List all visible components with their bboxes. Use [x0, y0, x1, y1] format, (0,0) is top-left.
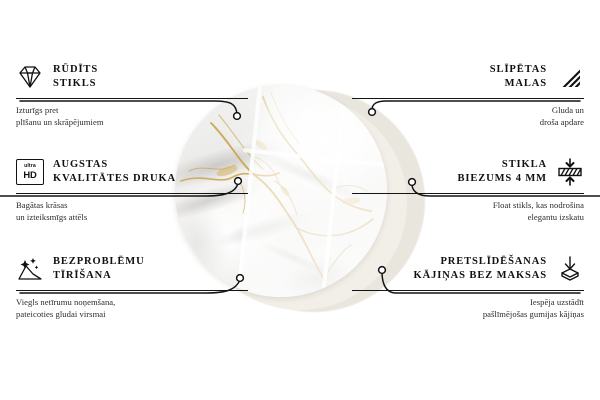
feature-description: Gluda un droša apdare	[352, 104, 584, 128]
feature-title: SLĪPĒTAS MALAS	[490, 63, 547, 92]
feature-glass-thickness: STIKLA BIEZUMS 4 MM Float stikls, kas no…	[352, 155, 584, 223]
feature-description: Bagātas krāsas un izteiksmīgs attēls	[16, 199, 248, 223]
feature-header: BEZPROBLĒMU TĪRĪŠANA	[16, 252, 248, 286]
feature-divider	[16, 193, 248, 194]
polished-edge-icon	[556, 63, 584, 91]
feature-divider	[352, 193, 584, 194]
feature-divider	[352, 98, 584, 99]
feature-title: BEZPROBLĒMU TĪRĪŠANA	[53, 255, 145, 284]
feature-anti-slip-feet: PRETSLĪDĒŠANAS KĀJIŅAS BEZ MAKSAS Iespēj…	[352, 252, 584, 320]
feature-header: ultra HD AUGSTAS KVALITĀTES DRUKA	[16, 155, 248, 189]
product-feature-infographic: RŪDĪTS STIKLS Izturīgs pret plīšanu un s…	[0, 0, 600, 400]
feature-description: Izturīgs pret plīšanu un skrāpējumiem	[16, 104, 248, 128]
diamond-icon	[16, 63, 44, 91]
feature-easy-cleaning: BEZPROBLĒMU TĪRĪŠANA Viegls netīrumu noņ…	[16, 252, 248, 320]
feature-description: Iespēja uzstādīt pašlīmējošas gumijas kā…	[352, 296, 584, 320]
feature-divider	[16, 98, 248, 99]
feature-header: RŪDĪTS STIKLS	[16, 60, 248, 94]
anti-slip-foot-icon	[556, 255, 584, 283]
feature-description: Viegls netīrumu noņemšana, pateicoties g…	[16, 296, 248, 320]
feature-divider	[352, 290, 584, 291]
feature-title: AUGSTAS KVALITĀTES DRUKA	[53, 158, 176, 187]
feature-title: RŪDĪTS STIKLS	[53, 63, 98, 92]
feature-tempered-glass: RŪDĪTS STIKLS Izturīgs pret plīšanu un s…	[16, 60, 248, 128]
feature-header: SLĪPĒTAS MALAS	[352, 60, 584, 94]
sparkle-clean-icon	[16, 255, 44, 283]
feature-header: PRETSLĪDĒŠANAS KĀJIŅAS BEZ MAKSAS	[352, 252, 584, 286]
feature-divider	[16, 290, 248, 291]
feature-title: STIKLA BIEZUMS 4 MM	[457, 158, 547, 187]
feature-high-quality-print: ultra HD AUGSTAS KVALITĀTES DRUKA Bagāta…	[16, 155, 248, 223]
feature-title: PRETSLĪDĒŠANAS KĀJIŅAS BEZ MAKSAS	[414, 255, 547, 284]
glass-thickness-icon	[556, 158, 584, 186]
feature-description: Float stikls, kas nodrošina elegantu izs…	[352, 199, 584, 223]
feature-polished-edges: SLĪPĒTAS MALAS Gluda un droša apdare	[352, 60, 584, 128]
feature-header: STIKLA BIEZUMS 4 MM	[352, 155, 584, 189]
ultra-hd-badge-icon: ultra HD	[16, 158, 44, 186]
